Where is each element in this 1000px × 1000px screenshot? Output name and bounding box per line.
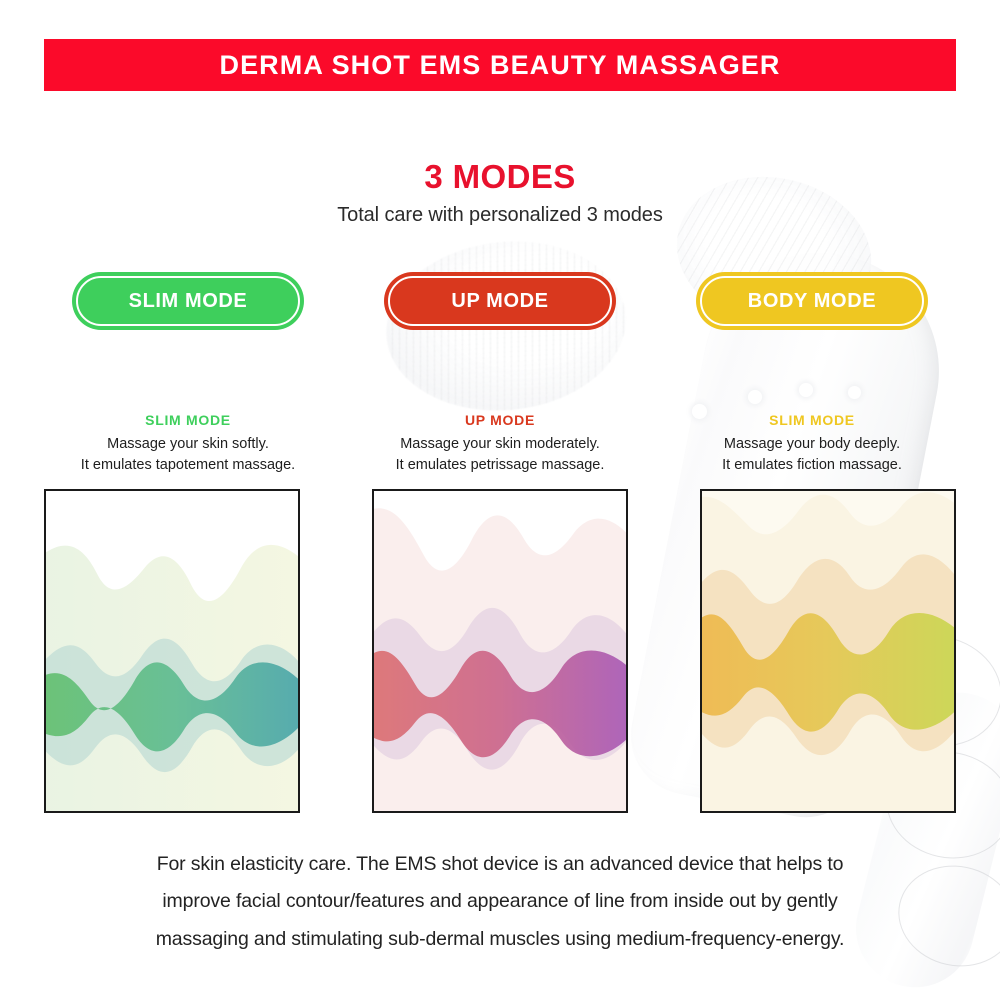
slim-mode-caption: SLIM MODE Massage your skin softly. It e…	[38, 412, 338, 476]
headline-block: 3 MODES Total care with personalized 3 m…	[0, 160, 1000, 227]
slim-mode-button-label: SLIM MODE	[129, 290, 248, 313]
wave-panels	[44, 489, 956, 813]
wave-art-slim	[46, 491, 298, 811]
wave-art-body	[702, 491, 954, 811]
footer-line-3: massaging and stimulating sub-dermal mus…	[60, 921, 940, 958]
banner-title: DERMA SHOT EMS BEAUTY MASSAGER	[219, 50, 780, 81]
page-subtitle: Total care with personalized 3 modes	[0, 204, 1000, 227]
wave-art-up	[374, 491, 626, 811]
up-mode-button[interactable]: UP MODE	[384, 272, 616, 330]
footer-description: For skin elasticity care. The EMS shot d…	[60, 846, 940, 958]
up-mode-caption-line-2: It emulates petrissage massage.	[350, 455, 650, 476]
body-mode-button-inner: BODY MODE	[700, 276, 924, 326]
infographic-page: DERMA SHOT EMS BEAUTY MASSAGER 3 MODES T…	[0, 0, 1000, 1000]
slim-mode-caption-line-1: Massage your skin softly.	[38, 434, 338, 455]
slim-mode-button-inner: SLIM MODE	[76, 276, 300, 326]
mode-column-body: BODY MODE SLIM MODE Massage your body de…	[668, 272, 956, 476]
up-mode-caption-line-1: Massage your skin moderately.	[350, 434, 650, 455]
up-mode-button-inner: UP MODE	[388, 276, 612, 326]
slim-mode-caption-title: SLIM MODE	[38, 412, 338, 428]
wave-panel-up	[372, 489, 628, 813]
mode-column-slim: SLIM MODE SLIM MODE Massage your skin so…	[44, 272, 332, 476]
up-mode-button-label: UP MODE	[451, 290, 548, 313]
body-mode-button[interactable]: BODY MODE	[696, 272, 928, 330]
slim-mode-caption-line-2: It emulates tapotement massage.	[38, 455, 338, 476]
body-mode-caption: SLIM MODE Massage your body deeply. It e…	[662, 412, 962, 476]
up-mode-caption: UP MODE Massage your skin moderately. It…	[350, 412, 650, 476]
footer-line-1: For skin elasticity care. The EMS shot d…	[60, 846, 940, 883]
page-title: 3 MODES	[0, 160, 1000, 195]
header-banner: DERMA SHOT EMS BEAUTY MASSAGER	[44, 39, 956, 91]
slim-mode-button[interactable]: SLIM MODE	[72, 272, 304, 330]
wave-panel-body	[700, 489, 956, 813]
wave-panel-slim	[44, 489, 300, 813]
body-mode-caption-line-1: Massage your body deeply.	[662, 434, 962, 455]
body-mode-caption-line-2: It emulates fiction massage.	[662, 455, 962, 476]
up-mode-caption-title: UP MODE	[350, 412, 650, 428]
footer-line-2: improve facial contour/features and appe…	[60, 883, 940, 920]
body-mode-button-label: BODY MODE	[748, 290, 876, 313]
body-mode-caption-title: SLIM MODE	[662, 412, 962, 428]
mode-columns: SLIM MODE SLIM MODE Massage your skin so…	[44, 272, 956, 476]
mode-column-up: UP MODE UP MODE Massage your skin modera…	[356, 272, 644, 476]
